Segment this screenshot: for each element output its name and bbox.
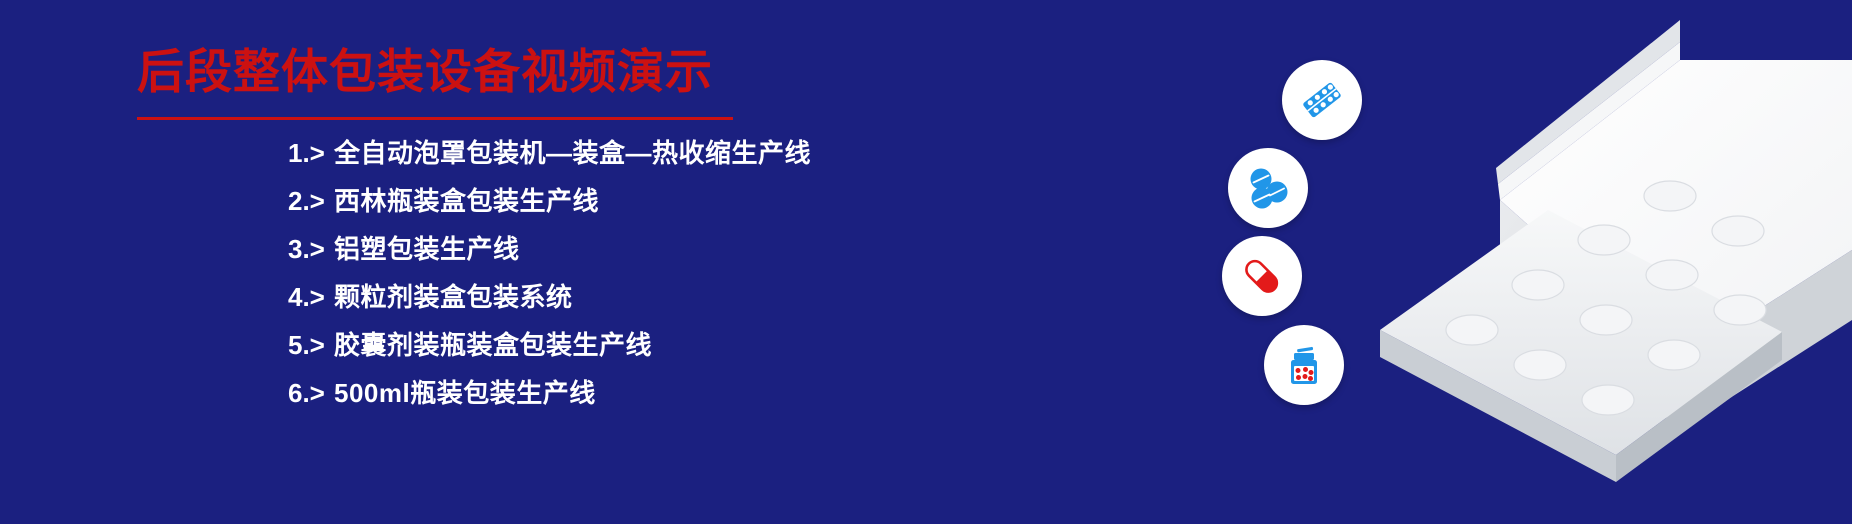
blister-pack-icon [1294, 72, 1350, 128]
capsule-icon-badge [1222, 236, 1302, 316]
list-item[interactable]: 1.> 全自动泡罩包装机—装盒—热收缩生产线 [288, 133, 811, 181]
list-item-index: 1.> [288, 138, 334, 169]
list-item-label: 500ml瓶装包装生产线 [334, 373, 596, 410]
list-item-label: 颗粒剂装盒包装系统 [334, 277, 573, 314]
list-item-label: 西林瓶装盒包装生产线 [334, 181, 599, 218]
feature-list: 1.> 全自动泡罩包装机—装盒—热收缩生产线 2.> 西林瓶装盒包装生产线 3.… [288, 133, 811, 421]
pills-icon-badge [1228, 148, 1308, 228]
list-item-label: 胶囊剂装瓶装盒包装生产线 [334, 325, 652, 362]
list-item[interactable]: 6.> 500ml瓶装包装生产线 [288, 373, 811, 421]
page-title: 后段整体包装设备视频演示 [137, 44, 713, 100]
list-item-label: 全自动泡罩包装机—装盒—热收缩生产线 [334, 133, 811, 170]
list-item[interactable]: 3.> 铝塑包装生产线 [288, 229, 811, 277]
pill-bottle-icon [1278, 339, 1330, 391]
list-item-index: 5.> [288, 330, 334, 361]
pills-icon [1241, 161, 1295, 215]
list-item[interactable]: 4.> 颗粒剂装盒包装系统 [288, 277, 811, 325]
list-item-index: 2.> [288, 186, 334, 217]
list-item-index: 4.> [288, 282, 334, 313]
list-item[interactable]: 5.> 胶囊剂装瓶装盒包装生产线 [288, 325, 811, 373]
list-item-label: 铝塑包装生产线 [334, 229, 520, 266]
list-item-index: 6.> [288, 378, 334, 409]
title-underline [137, 117, 733, 120]
capsule-icon [1235, 249, 1289, 303]
text-block: 后段整体包装设备视频演示 1.> 全自动泡罩包装机—装盒—热收缩生产线 2.> … [0, 0, 950, 524]
list-item-index: 3.> [288, 234, 334, 265]
pill-bottle-icon-badge [1264, 325, 1344, 405]
blister-pack-box-illustration [1380, 0, 1852, 524]
promo-banner: 后段整体包装设备视频演示 1.> 全自动泡罩包装机—装盒—热收缩生产线 2.> … [0, 0, 1852, 524]
blister-pack-icon-badge [1282, 60, 1362, 140]
list-item[interactable]: 2.> 西林瓶装盒包装生产线 [288, 181, 811, 229]
